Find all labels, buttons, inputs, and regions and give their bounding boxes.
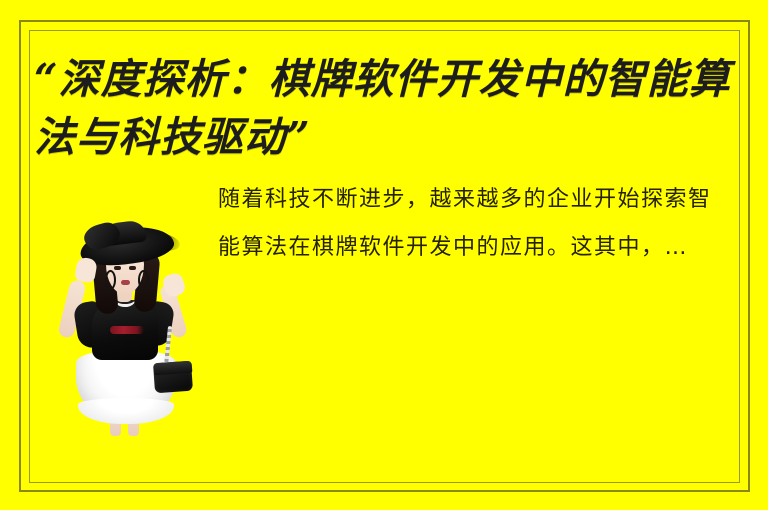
article-card: “深度探析：棋牌软件开发中的智能算法与科技驱动” 随着科技不断进步，越来越多的企… (0, 0, 768, 510)
eye-left (114, 266, 121, 270)
eye-right (129, 266, 136, 270)
earring-right (138, 270, 149, 290)
article-title: “深度探析：棋牌软件开发中的智能算法与科技驱动” (34, 50, 740, 166)
skirt-hem (78, 398, 174, 424)
earring-left (105, 270, 116, 290)
woman-in-black-hat-illustration (58, 222, 194, 437)
lips (121, 280, 130, 285)
red-script-logo (110, 326, 144, 334)
article-excerpt: 随着科技不断进步，越来越多的企业开始探索智能算法在棋牌软件开发中的应用。这其中，… (218, 176, 734, 272)
